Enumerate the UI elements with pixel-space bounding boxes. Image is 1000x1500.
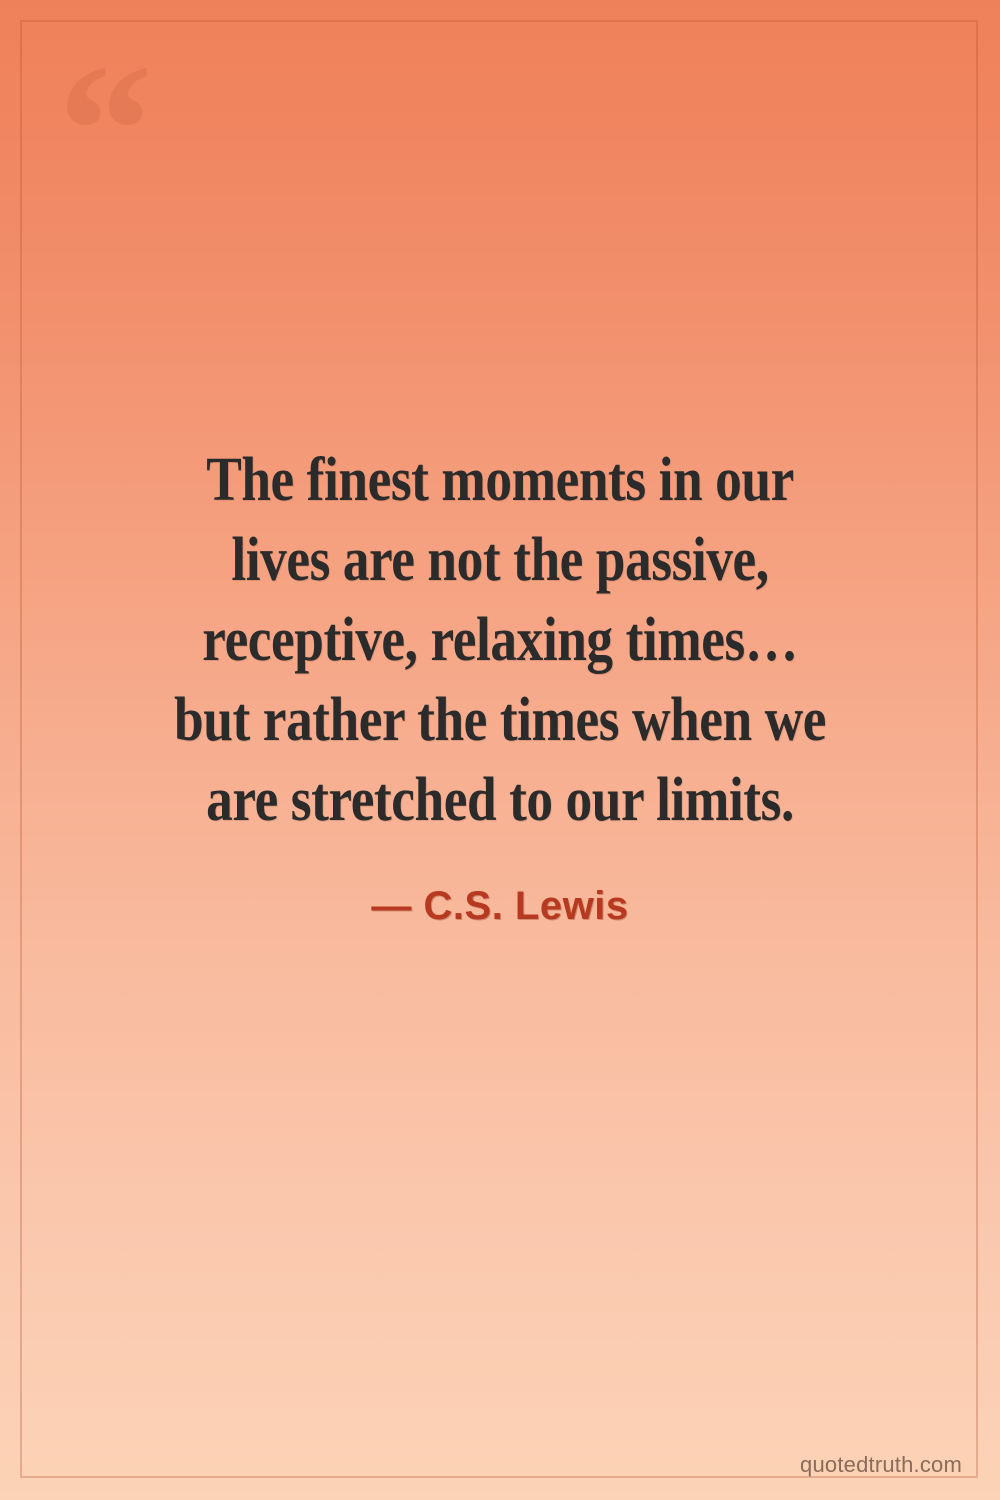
quote-content-stack: The finest moments in our lives are not … <box>0 0 1000 1500</box>
site-watermark: quotedtruth.com <box>800 1452 962 1478</box>
quote-attribution: — C.S. Lewis <box>371 884 628 929</box>
quote-text: The finest moments in our lives are not … <box>113 440 887 840</box>
quote-card: “ The finest moments in our lives are no… <box>0 0 1000 1500</box>
